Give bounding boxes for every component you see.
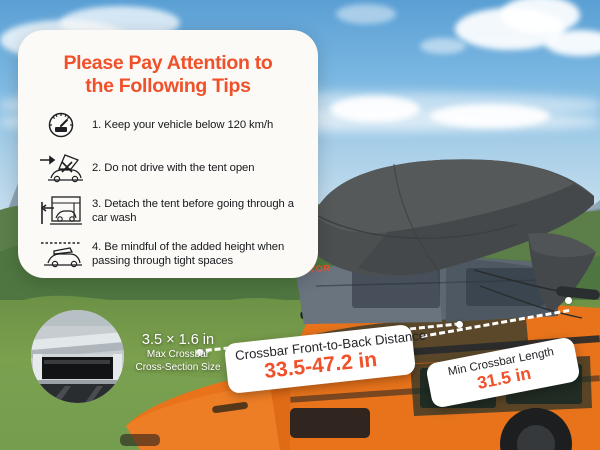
tip-text-3: 3. Detach the tent before going through … xyxy=(92,197,300,226)
car-tent-open-crossed-icon xyxy=(36,151,86,185)
crossbar-cross-section-size: 3.5 × 1.6 in xyxy=(124,332,232,349)
crossbar-caption-line-1: Max Crossbar xyxy=(124,349,232,362)
tips-card: Please Pay Attention to the Following Ti… xyxy=(18,30,318,278)
tent-guy-lines xyxy=(470,262,600,332)
tip-text-2: 2. Do not drive with the tent open xyxy=(92,161,254,176)
tip-text-4: 4. Be mindful of the added height when p… xyxy=(92,240,300,269)
tip-item-4: 4. Be mindful of the added height when p… xyxy=(36,237,300,271)
car-low-clearance-icon xyxy=(36,237,86,271)
crossbar-cross-section-caption: 3.5 × 1.6 in Max Crossbar Cross-Section … xyxy=(124,332,232,374)
measure-endpoint-dot xyxy=(565,297,572,304)
product-scene: VEVOR Please Pay Attention to the Follow… xyxy=(0,0,600,450)
car-wash-icon xyxy=(36,194,86,228)
speedometer-icon xyxy=(36,108,86,142)
cloud xyxy=(420,38,466,54)
tip-item-2: 2. Do not drive with the tent open xyxy=(36,151,300,185)
tip-item-1: 1. Keep your vehicle below 120 km/h xyxy=(36,108,300,142)
tips-title-line-1: Please Pay Attention to xyxy=(42,52,294,75)
cloud xyxy=(330,96,420,122)
tip-text-1: 1. Keep your vehicle below 120 km/h xyxy=(92,118,273,133)
crossbar-caption-line-2: Cross-Section Size xyxy=(124,362,232,375)
tips-card-title: Please Pay Attention to the Following Ti… xyxy=(42,52,294,98)
crossbar-cross-section-photo xyxy=(31,310,124,403)
tips-title-line-2: the Following Tips xyxy=(42,75,294,98)
cloud xyxy=(336,4,396,24)
tip-item-3: 3. Detach the tent before going through … xyxy=(36,194,300,228)
